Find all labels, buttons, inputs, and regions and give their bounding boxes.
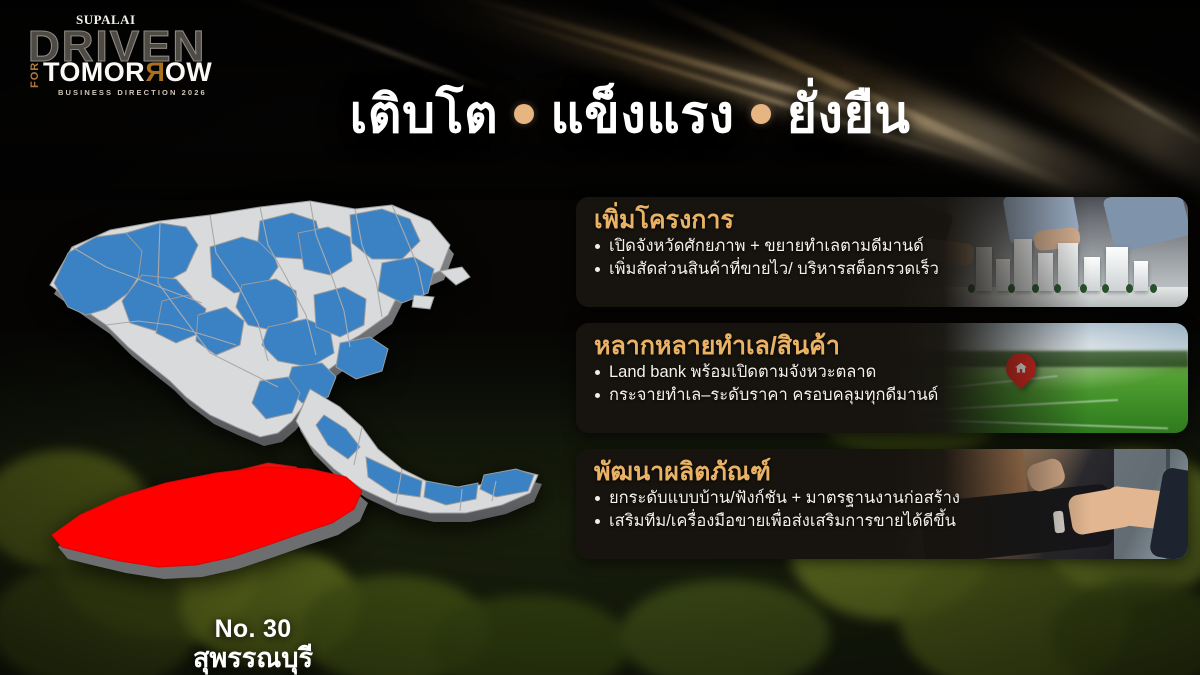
card-title: พัฒนาผลิตภัณฑ์ [594, 458, 1038, 486]
card-bullets: ยกระดับแบบบ้าน/ฟังก์ชัน + มาตรฐานงานก่อส… [594, 487, 1038, 534]
tomorrow-part1: TOMOR [43, 57, 145, 87]
headline-part-3: ยั่งยืน [787, 86, 911, 144]
bullet-dot-icon [751, 104, 771, 124]
card-title: เพิ่มโครงการ [594, 206, 1038, 234]
tomorrow-part2: OW [165, 57, 212, 87]
headline-part-1: เติบโต [350, 86, 499, 144]
suphanburi-callout-shape [52, 467, 368, 579]
map-regions [50, 201, 538, 513]
strategy-card[interactable]: หลากหลายทําเล/สินค้า Land bank พร้อมเปิด… [576, 323, 1188, 433]
card-bullet: ยกระดับแบบบ้าน/ฟังก์ชัน + มาตรฐานงานก่อส… [594, 487, 1038, 510]
card-bullets: Land bank พร้อมเปิดตามจังหวะตลาด กระจายท… [594, 361, 1038, 408]
card-title: หลากหลายทําเล/สินค้า [594, 332, 1038, 360]
card-bullet: Land bank พร้อมเปิดตามจังหวะตลาด [594, 361, 1038, 384]
headline-part-2: แข็งแรง [550, 86, 734, 144]
strategy-cards-list: เพิ่มโครงการ เปิดจังหวัดศักยภาพ + ขยายทํ… [576, 197, 1188, 575]
card-bullet: เพิ่มสัดส่วนสินค้าที่ขายไว/ บริหารสต็อกร… [594, 258, 1038, 281]
foliage-blob [620, 580, 830, 675]
province-blue [336, 337, 388, 379]
page-title: เติบโตแข็งแรงยั่งยืน [0, 84, 1200, 147]
bullet-dot-icon [514, 104, 534, 124]
presentation-slide: SUPALAI DRIVEN FOR TOMORROW BUSINESS DIR… [0, 0, 1200, 675]
strategy-card[interactable]: เพิ่มโครงการ เปิดจังหวัดศักยภาพ + ขยายทํ… [576, 197, 1188, 307]
thailand-province-map: No. 30 สุพรรณบุรี [10, 175, 570, 595]
card-bullet: เปิดจังหวัดศักยภาพ + ขยายทําเลตามดีมานด์ [594, 235, 1038, 258]
map-svg [10, 175, 570, 595]
strategy-card[interactable]: พัฒนาผลิตภัณฑ์ ยกระดับแบบบ้าน/ฟังก์ชัน +… [576, 449, 1188, 559]
card-bullet: กระจายทําเล–ระดับราคา ครอบคลุมทุกดีมานด์ [594, 384, 1038, 407]
card-bullets: เปิดจังหวัดศักยภาพ + ขยายทําเลตามดีมานด์… [594, 235, 1038, 282]
card-bullet: เสริมทีม/เครื่องมือขายเพื่อส่งเสริมการขา… [594, 510, 1038, 533]
